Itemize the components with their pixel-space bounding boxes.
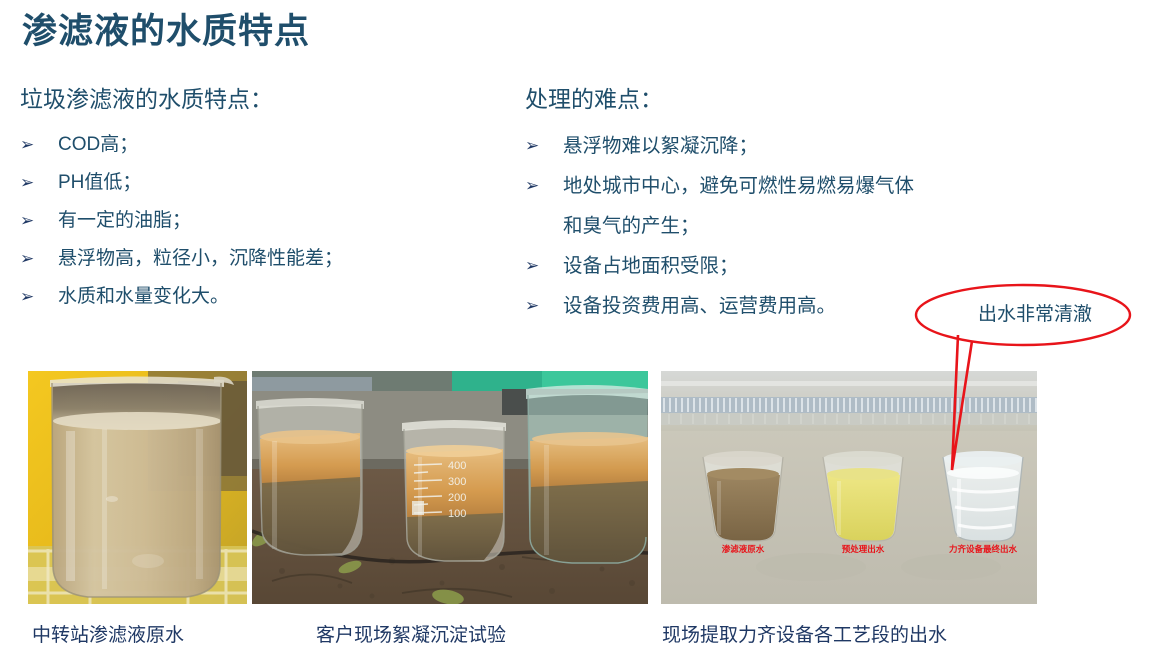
photo-raw-leachate-beaker <box>28 371 247 604</box>
svg-text:100: 100 <box>448 508 466 520</box>
list-item: ➢ 悬浮物高，粒径小，沉降性能差； <box>20 240 490 278</box>
photo-caption-3: 现场提取力齐设备各工艺段的出水 <box>662 620 947 647</box>
page-title: 渗滤液的水质特点 <box>22 10 310 54</box>
left-column: 垃圾渗滤液的水质特点： ➢ COD高； ➢ PH值低； ➢ 有一定的油脂； ➢ … <box>20 84 490 316</box>
slide-canvas: 渗滤液的水质特点 垃圾渗滤液的水质特点： ➢ COD高； ➢ PH值低； ➢ 有… <box>0 0 1150 669</box>
cup-label-raw: 渗滤液原水 <box>722 544 765 554</box>
list-item: ➢ 水质和水量变化大。 <box>20 278 490 316</box>
svg-text:400: 400 <box>448 460 466 472</box>
cup-label-final: 力齐设备最终出水 <box>949 544 1018 554</box>
list-item-label: COD高； <box>58 126 490 164</box>
photo-caption-1: 中转站渗滤液原水 <box>32 620 184 647</box>
list-item-label: 有一定的油脂； <box>58 202 490 240</box>
left-bullet-list: ➢ COD高； ➢ PH值低； ➢ 有一定的油脂； ➢ 悬浮物高，粒径小，沉降性… <box>20 126 490 316</box>
right-bullet-list: ➢ 悬浮物难以絮凝沉降； ➢ 地处城市中心，避免可燃性易燃易爆气体 和臭气的产生… <box>525 126 1045 326</box>
list-item: ➢ COD高； <box>20 126 490 164</box>
callout-label: 出水非常清澈 <box>960 299 1110 326</box>
right-column: 处理的难点： ➢ 悬浮物难以絮凝沉降； ➢ 地处城市中心，避免可燃性易燃易爆气体… <box>525 84 1045 326</box>
arrow-bullet-icon: ➢ <box>525 166 563 206</box>
arrow-bullet-icon: ➢ <box>525 246 563 286</box>
list-item: ➢ 地处城市中心，避免可燃性易燃易爆气体 和臭气的产生； <box>525 166 1045 246</box>
arrow-bullet-icon: ➢ <box>20 240 58 278</box>
list-item-label: 水质和水量变化大。 <box>58 278 490 316</box>
arrow-bullet-icon: ➢ <box>525 126 563 166</box>
photo-process-stage-effluent-cups: 渗滤液原水 预处理出水 力齐设备最终出水 <box>661 371 1037 604</box>
arrow-bullet-icon: ➢ <box>20 278 58 316</box>
list-item-label: 设备占地面积受限； <box>563 246 1045 286</box>
list-item-label: 地处城市中心，避免可燃性易燃易爆气体 和臭气的产生； <box>563 166 1045 246</box>
svg-text:200: 200 <box>448 492 466 504</box>
svg-text:300: 300 <box>448 476 466 488</box>
photo-flocculation-settling-test: 400 300 200 100 <box>252 371 648 604</box>
arrow-bullet-icon: ➢ <box>20 164 58 202</box>
list-item-label: PH值低； <box>58 164 490 202</box>
arrow-bullet-icon: ➢ <box>525 286 563 326</box>
list-item: ➢ 设备占地面积受限； <box>525 246 1045 286</box>
cup-label-pretreated: 预处理出水 <box>842 544 885 554</box>
list-item-label: 悬浮物高，粒径小，沉降性能差； <box>58 240 490 278</box>
arrow-bullet-icon: ➢ <box>20 126 58 164</box>
right-column-heading: 处理的难点： <box>525 84 1045 114</box>
list-item-label: 悬浮物难以絮凝沉降； <box>563 126 1045 166</box>
arrow-bullet-icon: ➢ <box>20 202 58 240</box>
list-item: ➢ 悬浮物难以絮凝沉降； <box>525 126 1045 166</box>
list-item: ➢ 有一定的油脂； <box>20 202 490 240</box>
list-item: ➢ PH值低； <box>20 164 490 202</box>
photo-caption-2: 客户现场絮凝沉淀试验 <box>316 620 506 647</box>
left-column-heading: 垃圾渗滤液的水质特点： <box>20 84 490 114</box>
